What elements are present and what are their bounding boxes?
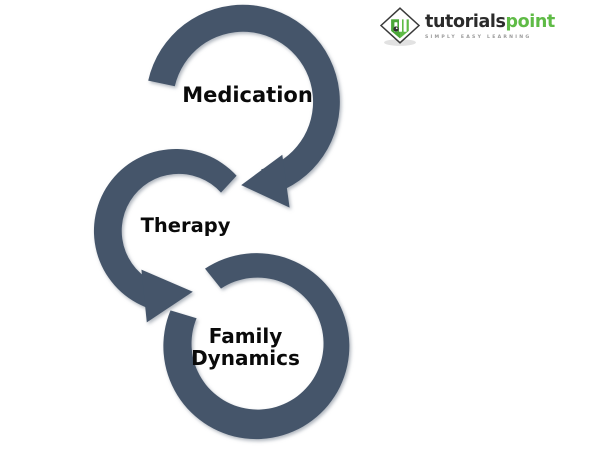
family-dynamics-ring — [163, 253, 349, 439]
medication-arrowhead — [241, 155, 289, 208]
diagram-canvas: tutorialspoint SIMPLY EASY LEARNING — [0, 0, 600, 465]
node-therapy[interactable] — [94, 149, 237, 322]
cyclical-process-diagram — [0, 0, 600, 465]
therapy-arrowhead — [141, 270, 192, 323]
node-medication[interactable] — [148, 5, 340, 208]
node-family-dynamics[interactable] — [163, 253, 349, 439]
